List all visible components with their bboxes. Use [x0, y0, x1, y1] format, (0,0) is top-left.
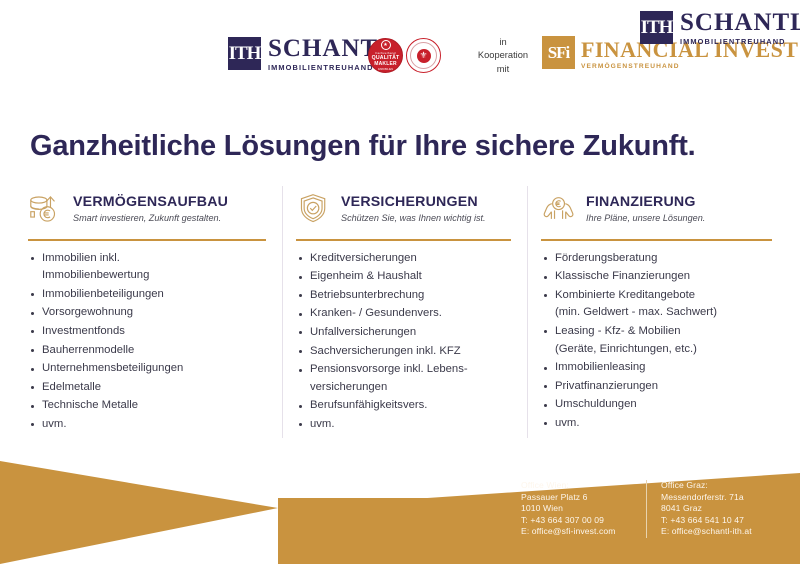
list-item: Investmentfonds: [28, 323, 266, 341]
list-item-text: Sachversicherungen inkl. KFZ: [310, 345, 461, 357]
column-title: FINANZIERUNG: [586, 194, 705, 210]
column-header: FINANZIERUNG Ihre Pläne, unsere Lösungen…: [541, 186, 772, 232]
seal-emblem-icon: ★: [381, 40, 391, 50]
column-header: VERMÖGENSAUFBAU Smart investieren, Zukun…: [28, 186, 266, 232]
bowtie-left-shape: [0, 461, 278, 564]
list-item: Immobilienleasing: [541, 359, 772, 377]
column-subtitle: Ihre Pläne, unsere Lösungen.: [586, 213, 705, 223]
cooperation-line-1: in: [470, 36, 536, 49]
list-item-text: Vorsorgewohnung: [42, 306, 133, 318]
column-divider: [296, 239, 511, 241]
list-item-text: Unternehmensbeteiligungen: [42, 362, 183, 374]
list-item: Betriebsunterbrechung: [296, 287, 511, 305]
office-city: 1010 Wien: [521, 503, 646, 515]
office-street: Passauer Platz 6: [521, 492, 646, 504]
list-item-text: Privatfinanzierungen: [555, 380, 658, 392]
column-title-block: VERMÖGENSAUFBAU Smart investieren, Zukun…: [73, 194, 228, 224]
service-list: Immobilien inkl.Immobilienbewertung Immo…: [28, 250, 266, 434]
list-item-text: Edelmetalle: [42, 381, 101, 393]
list-item-text: Immobilien inkl.: [42, 252, 120, 264]
office-graz-block: Office Graz: Messendorferstr. 71a 8041 G…: [646, 480, 752, 538]
seal-line-1: Fachverband: [375, 51, 395, 55]
list-item: uvm.: [296, 416, 511, 434]
ith-logo-text-topright: SCHANTL IMMOBILIENTREUHAND: [680, 10, 800, 45]
list-item-text: Kranken- / Gesundenvers.: [310, 307, 442, 319]
list-item: Eigenheim & Haushalt: [296, 268, 511, 286]
ith-logo-name: SCHANTL: [680, 10, 800, 35]
office-name: Office Graz:: [661, 480, 752, 492]
office-email[interactable]: E: office@sfi-invest.com: [521, 526, 646, 538]
list-item: Kombinierte Kreditangebote(min. Geldwert…: [541, 287, 772, 322]
list-item: Leasing - Kfz- & Mobilien(Geräte, Einric…: [541, 323, 772, 358]
list-item-text: uvm.: [310, 418, 334, 430]
office-street: Messendorferstr. 71a: [661, 492, 752, 504]
list-item: uvm.: [28, 416, 266, 434]
list-item: Immobilienbeteiligungen: [28, 286, 266, 304]
sfi-logo-subtitle: VERMÖGENSTREUHAND: [581, 64, 798, 71]
column-divider: [28, 239, 266, 241]
list-item-text: Immobilienbeteiligungen: [42, 288, 164, 300]
seal-line-4: IMMOBILIEN: [378, 68, 393, 71]
quality-seal-red-icon: ★ Fachverband QUALITÄT MAKLER IMMOBILIEN: [368, 38, 403, 73]
list-item-text: Unfallversicherungen: [310, 326, 416, 338]
list-item-text: Immobilienleasing: [555, 361, 645, 373]
list-item: Umschuldungen: [541, 396, 772, 414]
cooperation-line-3: mit: [470, 63, 536, 76]
office-name: Office Wien:: [521, 480, 646, 492]
list-item-text: Kreditversicherungen: [310, 252, 417, 264]
ith-schantl-logo-topright: ITH SCHANTL IMMOBILIENTREUHAND: [640, 10, 800, 45]
list-item-text: Pensionsvorsorge inkl. Lebens-: [310, 363, 468, 375]
column-subtitle: Schützen Sie, was Ihnen wichtig ist.: [341, 213, 486, 223]
list-item: Sachversicherungen inkl. KFZ: [296, 343, 511, 361]
list-item-continuation: (Geräte, Einrichtungen, etc.): [555, 341, 772, 359]
column-header: VERSICHERUNGEN Schützen Sie, was Ihnen w…: [296, 186, 511, 232]
ith-logo-subtitle: IMMOBILIENTREUHAND: [680, 38, 800, 45]
list-item: Vorsorgewohnung: [28, 304, 266, 322]
list-item-text: uvm.: [555, 417, 579, 429]
coins-growth-euro-icon: [28, 192, 64, 226]
poster-page: ITH SCHANTL IMMOBILIENTREUHAND ★ Fachver…: [0, 0, 800, 564]
seal-inner-ring: ⚜: [410, 42, 437, 69]
list-item-text: Leasing - Kfz- & Mobilien: [555, 325, 681, 337]
column-title-block: FINANZIERUNG Ihre Pläne, unsere Lösungen…: [586, 194, 705, 224]
list-item-text: Bauherrenmodelle: [42, 344, 134, 356]
list-item: Technische Metalle: [28, 397, 266, 415]
office-email[interactable]: E: office@schantl-ith.at: [661, 526, 752, 538]
column-vermoegensaufbau: VERMÖGENSAUFBAU Smart investieren, Zukun…: [28, 186, 282, 435]
list-item: Kreditversicherungen: [296, 250, 511, 268]
service-list: Kreditversicherungen Eigenheim & Haushal…: [296, 250, 511, 434]
list-item: Pensionsvorsorge inkl. Lebens-versicheru…: [296, 361, 511, 396]
office-phone[interactable]: T: +43 664 541 10 47: [661, 515, 752, 527]
list-item-continuation: versicherungen: [310, 379, 511, 397]
column-title: VERSICHERUNGEN: [341, 194, 486, 210]
list-item: Klassische Finanzierungen: [541, 268, 772, 286]
list-item: Unternehmensbeteiligungen: [28, 360, 266, 378]
list-item: Kranken- / Gesundenvers.: [296, 305, 511, 323]
ith-logo-icon: ITH: [228, 37, 261, 70]
list-item: Immobilien inkl.Immobilienbewertung: [28, 250, 266, 285]
header-logo-strip: ITH SCHANTL IMMOBILIENTREUHAND ★ Fachver…: [0, 0, 800, 104]
cooperation-note: in Kooperation mit: [470, 36, 536, 76]
service-columns: VERMÖGENSAUFBAU Smart investieren, Zukun…: [28, 186, 772, 435]
list-item: Berufsunfähigkeitsvers.: [296, 397, 511, 415]
list-item-continuation: (min. Geldwert - max. Sachwert): [555, 304, 772, 322]
list-item-text: Eigenheim & Haushalt: [310, 270, 422, 282]
column-subtitle: Smart investieren, Zukunft gestalten.: [73, 213, 228, 223]
list-item: Privatfinanzierungen: [541, 378, 772, 396]
office-city: 8041 Graz: [661, 503, 752, 515]
page-title: Ganzheitliche Lösungen für Ihre sichere …: [30, 130, 696, 163]
sfi-logo-icon: SFi: [542, 36, 575, 69]
ith-logo-icon: ITH: [640, 11, 673, 44]
list-item-continuation: Immobilienbewertung: [42, 267, 266, 285]
list-item-text: Betriebsunterbrechung: [310, 289, 424, 301]
hands-holding-coin-icon: [541, 192, 577, 226]
list-item: Unfallversicherungen: [296, 324, 511, 342]
list-item: Edelmetalle: [28, 379, 266, 397]
chamber-seal-icon: ⚜: [406, 38, 441, 73]
shield-check-icon: [296, 192, 332, 226]
list-item-text: Förderungsberatung: [555, 252, 657, 264]
list-item: Förderungsberatung: [541, 250, 772, 268]
column-title-block: VERSICHERUNGEN Schützen Sie, was Ihnen w…: [341, 194, 486, 224]
office-wien-block: Office Wien: Passauer Platz 6 1010 Wien …: [521, 480, 646, 538]
column-finanzierung: FINANZIERUNG Ihre Pläne, unsere Lösungen…: [527, 186, 772, 435]
cooperation-line-2: Kooperation: [470, 49, 536, 62]
list-item-text: Technische Metalle: [42, 399, 138, 411]
list-item: Bauherrenmodelle: [28, 342, 266, 360]
list-item: uvm.: [541, 415, 772, 433]
list-item-text: Investmentfonds: [42, 325, 125, 337]
list-item-text: Kombinierte Kreditangebote: [555, 289, 695, 301]
seal-crest-icon: ⚜: [417, 49, 431, 63]
seal-line-3: MAKLER: [374, 61, 397, 67]
column-divider: [541, 239, 772, 241]
list-item-text: Umschuldungen: [555, 398, 637, 410]
column-title: VERMÖGENSAUFBAU: [73, 194, 228, 210]
office-phone[interactable]: T: +43 664 307 00 09: [521, 515, 646, 527]
list-item-text: Klassische Finanzierungen: [555, 270, 690, 282]
footer-contacts: Office Wien: Passauer Platz 6 1010 Wien …: [521, 480, 752, 538]
list-item-text: uvm.: [42, 418, 66, 430]
service-list: Förderungsberatung Klassische Finanzieru…: [541, 250, 772, 433]
list-item-text: Berufsunfähigkeitsvers.: [310, 399, 427, 411]
column-versicherungen: VERSICHERUNGEN Schützen Sie, was Ihnen w…: [282, 186, 527, 435]
